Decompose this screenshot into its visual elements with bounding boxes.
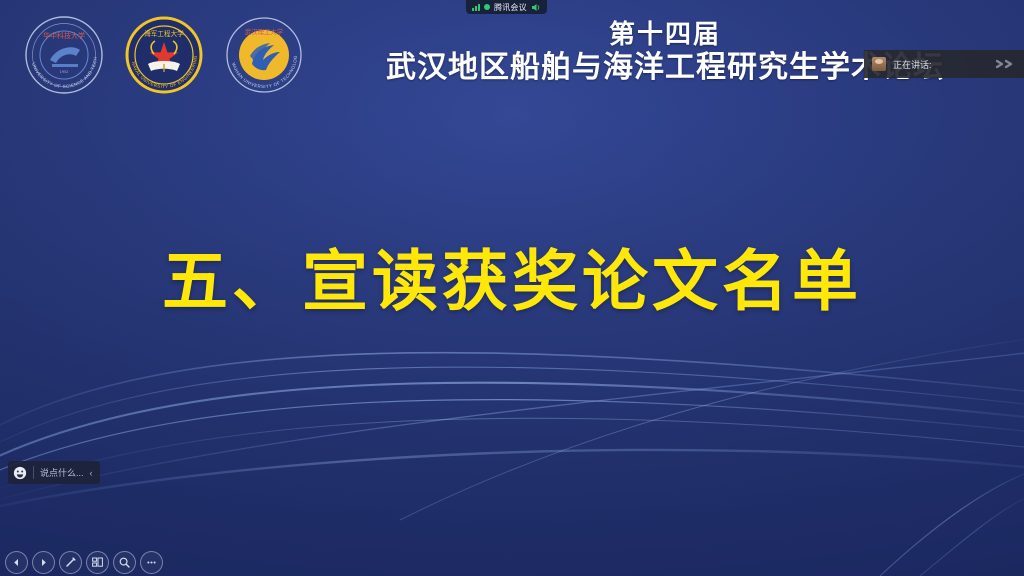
chat-input-placeholder[interactable]: 说点什么... bbox=[40, 466, 84, 479]
zoom-magnifier-button[interactable] bbox=[113, 551, 136, 574]
smiley-face-icon[interactable] bbox=[13, 466, 27, 480]
chat-collapse-button[interactable]: ‹ bbox=[84, 468, 98, 478]
presentation-screen: 腾讯会议 华中科技大学 1952 UNIVERSITY OF SCIENCE A… bbox=[0, 0, 1024, 576]
ellipsis-icon bbox=[145, 556, 158, 569]
forum-heading-line-1: 第十四届 bbox=[360, 20, 970, 49]
annotate-pen-button[interactable] bbox=[59, 551, 82, 574]
svg-text:1952: 1952 bbox=[60, 70, 69, 74]
logo-wuhan-university-of-technology: 武汉理工大学 WUHAN UNIVERSITY OF TECHNOLOGY bbox=[218, 12, 310, 98]
magnifier-icon bbox=[118, 556, 131, 569]
signal-bars-icon bbox=[472, 3, 480, 11]
chat-input-bar[interactable]: 说点什么... ‹ bbox=[8, 461, 100, 484]
presentation-toolbar bbox=[5, 551, 163, 574]
slide-title: 五、宣读获奖论文名单 bbox=[0, 228, 1024, 324]
next-slide-button[interactable] bbox=[32, 551, 55, 574]
double-chevron-right-icon[interactable] bbox=[994, 58, 1016, 70]
university-logo-row: 华中科技大学 1952 UNIVERSITY OF SCIENCE AND TE… bbox=[18, 12, 310, 98]
chat-divider bbox=[33, 466, 34, 479]
pen-icon bbox=[64, 556, 77, 569]
triangle-left-icon bbox=[11, 557, 22, 568]
more-options-button[interactable] bbox=[140, 551, 163, 574]
meeting-app-label: 腾讯会议 bbox=[494, 2, 527, 13]
meeting-status-pill[interactable]: 腾讯会议 bbox=[466, 0, 547, 14]
svg-text:华中科技大学: 华中科技大学 bbox=[43, 31, 85, 40]
user-avatar bbox=[872, 57, 886, 71]
logo-naval-university-of-engineering: 海军工程大学 NAVAL UNIVERSITY OF ENGINEERING bbox=[118, 12, 210, 98]
triangle-right-icon bbox=[38, 557, 49, 568]
active-speaker-label: 正在讲话: bbox=[893, 58, 987, 71]
grid-slides-icon bbox=[91, 556, 104, 569]
previous-slide-button[interactable] bbox=[5, 551, 28, 574]
active-speaker-panel[interactable]: 正在讲话: bbox=[864, 50, 1024, 78]
green-status-dot-icon bbox=[484, 4, 490, 10]
logo-huazhong-university-of-science-and-technology: 华中科技大学 1952 UNIVERSITY OF SCIENCE AND TE… bbox=[18, 12, 110, 98]
svg-text:武汉理工大学: 武汉理工大学 bbox=[245, 27, 284, 36]
slide-overview-button[interactable] bbox=[86, 551, 109, 574]
svg-text:海军工程大学: 海军工程大学 bbox=[144, 29, 184, 38]
speaker-volume-icon bbox=[531, 3, 541, 12]
